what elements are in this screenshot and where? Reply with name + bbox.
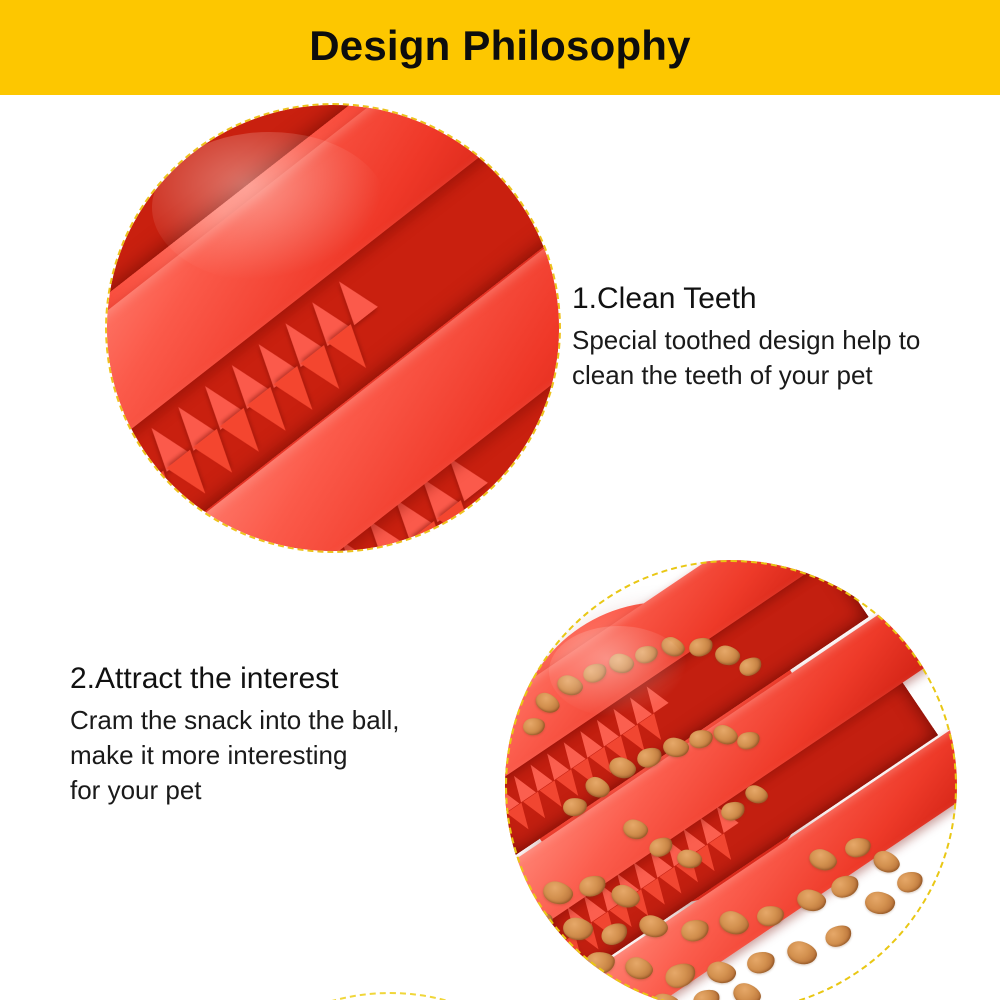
feature-body-line: Special toothed design help to xyxy=(572,323,992,358)
dashed-circle-outline xyxy=(505,560,957,1000)
figure-toothed-ball-closeup xyxy=(105,103,561,553)
feature-text-attract-interest: 2.Attract the interest Cram the snack in… xyxy=(70,662,490,809)
feature-body-line: Cram the snack into the ball, xyxy=(70,703,490,738)
feature-body-line: for your pet xyxy=(70,773,490,808)
feature-body-line: clean the teeth of your pet xyxy=(572,358,992,393)
feature-heading: 2.Attract the interest xyxy=(70,662,490,697)
feature-body-line: make it more interesting xyxy=(70,738,490,773)
feature-heading: 1.Clean Teeth xyxy=(572,282,992,317)
header-banner: Design Philosophy xyxy=(0,0,1000,95)
dashed-circle-outline xyxy=(105,103,561,553)
infographic-page: Design Philosophy xyxy=(0,0,1000,1000)
page-title: Design Philosophy xyxy=(309,25,690,67)
figure-treat-ball-with-kibble xyxy=(505,560,957,1000)
feature-text-clean-teeth: 1.Clean Teeth Special toothed design hel… xyxy=(572,282,992,393)
